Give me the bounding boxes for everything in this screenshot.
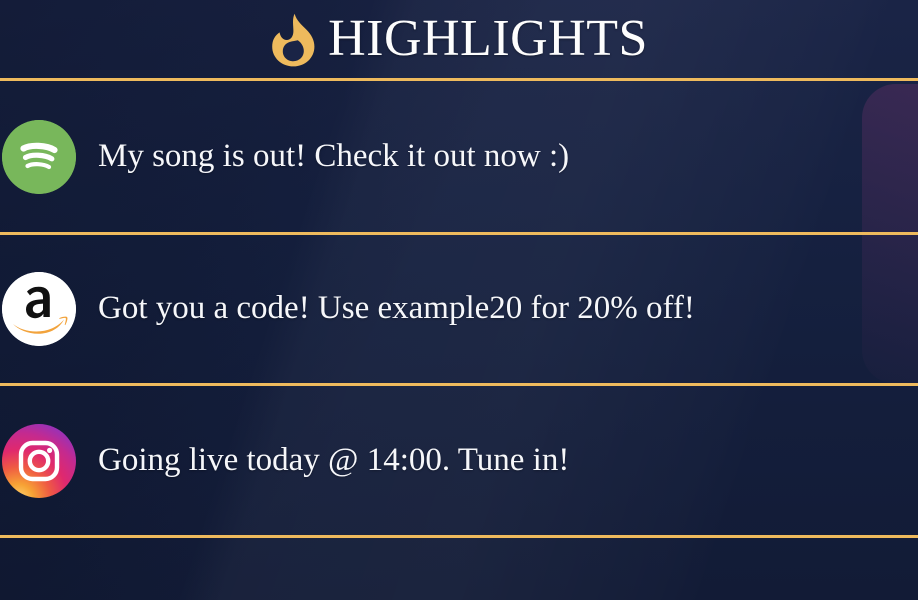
list-item[interactable]: Got you a code! Use example20 for 20% of…	[0, 235, 918, 383]
highlight-text: Going live today @ 14:00. Tune in!	[98, 442, 569, 480]
highlights-screen: HIGHLIGHTS My song is out! Check it out …	[0, 0, 918, 600]
highlight-text: Got you a code! Use example20 for 20% of…	[98, 290, 695, 328]
amazon-icon[interactable]	[2, 272, 76, 346]
page-header: HIGHLIGHTS	[0, 0, 918, 78]
flame-icon	[270, 13, 316, 67]
instagram-icon[interactable]	[2, 424, 76, 498]
list-item[interactable]: My song is out! Check it out now :)	[0, 81, 918, 232]
page-title: HIGHLIGHTS	[328, 13, 648, 65]
divider-bottom	[0, 535, 918, 538]
highlight-text: My song is out! Check it out now :)	[98, 138, 569, 176]
list-item[interactable]: Going live today @ 14:00. Tune in!	[0, 386, 918, 535]
spotify-icon[interactable]	[2, 120, 76, 194]
